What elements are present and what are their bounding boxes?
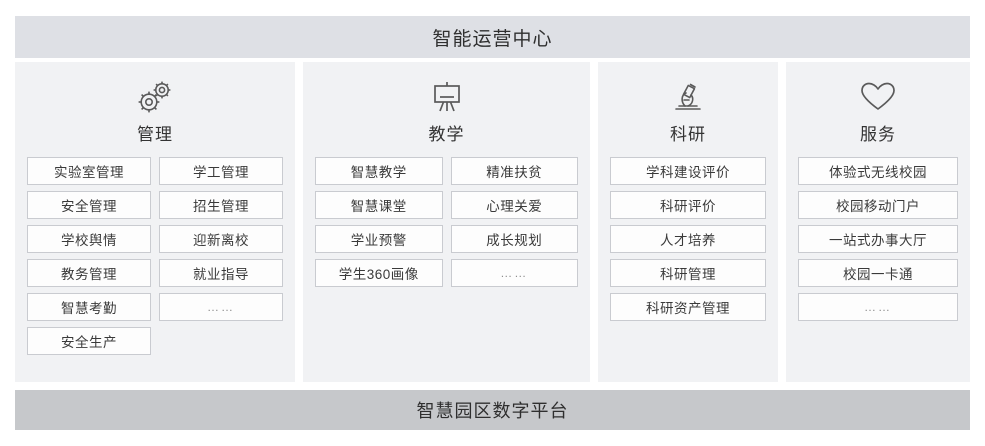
item-grid-teaching: 智慧教学 精准扶贫 智慧课堂 心理关爱 学业预警 成长规划 学生360画像 ……	[315, 157, 578, 287]
list-item[interactable]: 迎新离校	[159, 225, 283, 253]
list-item[interactable]: 人才培养	[610, 225, 766, 253]
list-item-more[interactable]: ……	[159, 293, 283, 321]
panel-teaching: 教学 智慧教学 精准扶贫 智慧课堂 心理关爱 学业预警 成长规划 学生360画像…	[303, 62, 590, 382]
top-banner-title: 智能运营中心	[432, 24, 552, 51]
list-item[interactable]: 心理关爱	[451, 191, 579, 219]
panel-title-management: 管理	[137, 120, 173, 145]
panel-service: 服务 体验式无线校园 校园移动门户 一站式办事大厅 校园一卡通 ……	[786, 62, 970, 382]
list-item[interactable]: 实验室管理	[27, 157, 151, 185]
list-item[interactable]: 科研评价	[610, 191, 766, 219]
bottom-banner: 智慧园区数字平台	[15, 390, 970, 430]
list-item[interactable]: 学生360画像	[315, 259, 443, 287]
list-item[interactable]: 安全管理	[27, 191, 151, 219]
heart-icon	[859, 76, 897, 118]
list-item[interactable]: 学工管理	[159, 157, 283, 185]
list-item[interactable]: 学校舆情	[27, 225, 151, 253]
list-item[interactable]: 招生管理	[159, 191, 283, 219]
item-grid-service: 体验式无线校园 校园移动门户 一站式办事大厅 校园一卡通 ……	[798, 157, 958, 321]
list-item-more[interactable]: ……	[451, 259, 579, 287]
list-item[interactable]: 精准扶贫	[451, 157, 579, 185]
panel-research: 科研 学科建设评价 科研评价 人才培养 科研管理 科研资产管理	[598, 62, 778, 382]
list-item[interactable]: 校园移动门户	[798, 191, 958, 219]
item-grid-management: 实验室管理 学工管理 安全管理 招生管理 学校舆情 迎新离校 教务管理 就业指导…	[27, 157, 283, 355]
item-grid-research: 学科建设评价 科研评价 人才培养 科研管理 科研资产管理	[610, 157, 766, 321]
panel-title-service: 服务	[860, 120, 896, 145]
list-item[interactable]: 校园一卡通	[798, 259, 958, 287]
list-item[interactable]: 科研管理	[610, 259, 766, 287]
list-item[interactable]: 成长规划	[451, 225, 579, 253]
list-item[interactable]: 教务管理	[27, 259, 151, 287]
panel-title-teaching: 教学	[429, 120, 465, 145]
top-banner: 智能运营中心	[15, 16, 970, 58]
list-item[interactable]: 智慧教学	[315, 157, 443, 185]
architecture-diagram: 智能运营中心	[15, 16, 970, 430]
list-item[interactable]: 学科建设评价	[610, 157, 766, 185]
list-item-more[interactable]: ……	[798, 293, 958, 321]
microscope-icon	[672, 76, 704, 118]
list-item[interactable]: 安全生产	[27, 327, 151, 355]
panel-title-research: 科研	[670, 120, 706, 145]
list-item[interactable]: 智慧考勤	[27, 293, 151, 321]
easel-board-icon	[429, 76, 465, 118]
capability-columns: 管理 实验室管理 学工管理 安全管理 招生管理 学校舆情 迎新离校 教务管理 就…	[15, 62, 970, 382]
gears-icon	[135, 76, 175, 118]
list-item[interactable]: 就业指导	[159, 259, 283, 287]
panel-management: 管理 实验室管理 学工管理 安全管理 招生管理 学校舆情 迎新离校 教务管理 就…	[15, 62, 295, 382]
list-item[interactable]: 智慧课堂	[315, 191, 443, 219]
list-item[interactable]: 体验式无线校园	[798, 157, 958, 185]
bottom-banner-title: 智慧园区数字平台	[417, 397, 569, 423]
list-item[interactable]: 一站式办事大厅	[798, 225, 958, 253]
list-item[interactable]: 学业预警	[315, 225, 443, 253]
list-item[interactable]: 科研资产管理	[610, 293, 766, 321]
